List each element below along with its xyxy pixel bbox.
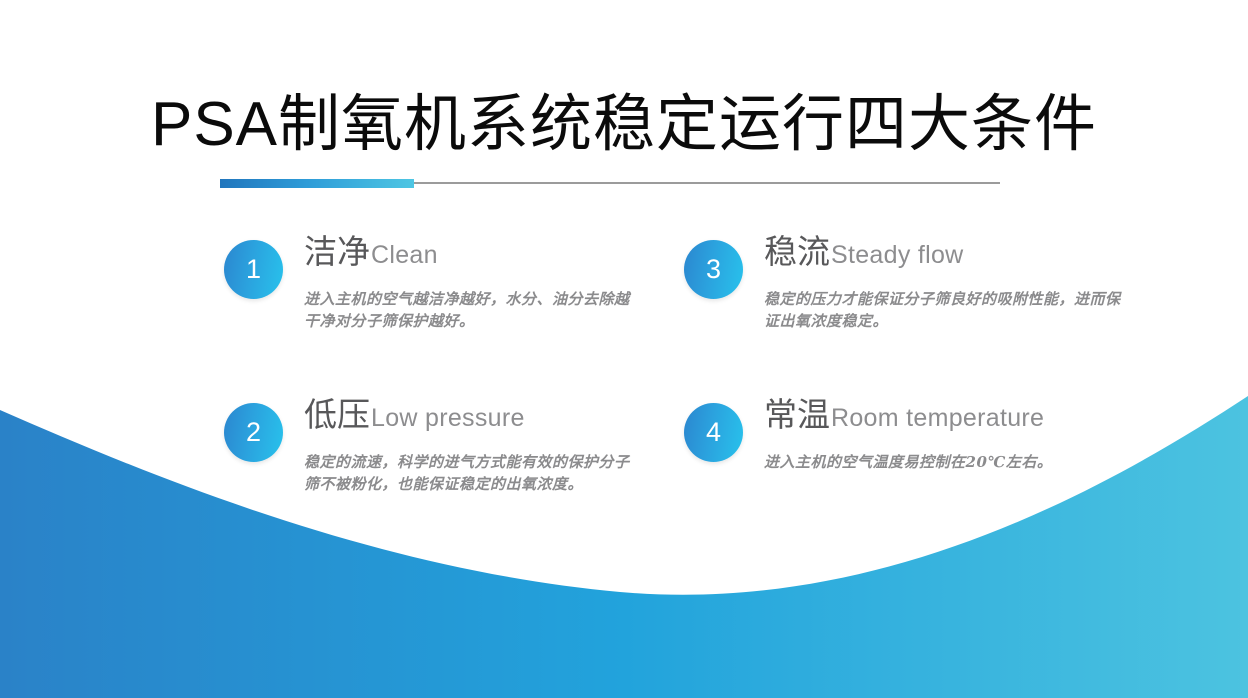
condition-item-4[interactable]: 4 常温Room temperature 进入主机的空气温度易控制在20℃左右。 <box>684 395 1154 535</box>
condition-number-badge-4: 4 <box>684 403 743 462</box>
condition-description-4: 进入主机的空气温度易控制在20℃左右。 <box>764 451 1124 473</box>
condition-heading-4: 常温Room temperature <box>764 395 1154 442</box>
condition-body-3: 稳流Steady flow 稳定的压力才能保证分子筛良好的吸附性能，进而保证出氧… <box>764 232 1154 332</box>
condition-description-3: 稳定的压力才能保证分子筛良好的吸附性能，进而保证出氧浓度稳定。 <box>764 288 1124 332</box>
condition-number-badge-1: 1 <box>224 240 283 299</box>
condition-heading-en-4: Room temperature <box>831 404 1044 432</box>
condition-number-badge-3: 3 <box>684 240 743 299</box>
condition-heading-cn-4: 常温 <box>764 396 830 433</box>
page-title: PSA制氧机系统稳定运行四大条件 <box>0 88 1248 162</box>
condition-heading-en-1: Clean <box>371 241 438 269</box>
condition-heading-cn-2: 低压 <box>304 396 370 433</box>
condition-item-1[interactable]: 1 洁净Clean 进入主机的空气越洁净越好，水分、油分去除越干净对分子筛保护越… <box>224 232 694 372</box>
condition-heading-cn-3: 稳流 <box>764 233 830 270</box>
condition-heading-2: 低压Low pressure <box>304 395 694 442</box>
condition-heading-cn-1: 洁净 <box>304 233 370 270</box>
condition-heading-en-2: Low pressure <box>371 404 525 432</box>
condition-body-4: 常温Room temperature 进入主机的空气温度易控制在20℃左右。 <box>764 395 1154 473</box>
conditions-grid: 1 洁净Clean 进入主机的空气越洁净越好，水分、油分去除越干净对分子筛保护越… <box>0 232 1248 532</box>
title-underline-rule <box>220 179 1000 188</box>
condition-body-2: 低压Low pressure 稳定的流速，科学的进气方式能有效的保护分子筛不被粉… <box>304 395 694 495</box>
condition-item-3[interactable]: 3 稳流Steady flow 稳定的压力才能保证分子筛良好的吸附性能，进而保证… <box>684 232 1154 372</box>
condition-body-1: 洁净Clean 进入主机的空气越洁净越好，水分、油分去除越干净对分子筛保护越好。 <box>304 232 694 332</box>
condition-description-2: 稳定的流速，科学的进气方式能有效的保护分子筛不被粉化，也能保证稳定的出氧浓度。 <box>304 451 634 495</box>
condition-number-badge-2: 2 <box>224 403 283 462</box>
title-rule-accent <box>220 179 414 188</box>
condition-item-2[interactable]: 2 低压Low pressure 稳定的流速，科学的进气方式能有效的保护分子筛不… <box>224 395 694 535</box>
condition-description-1: 进入主机的空气越洁净越好，水分、油分去除越干净对分子筛保护越好。 <box>304 288 634 332</box>
condition-heading-3: 稳流Steady flow <box>764 232 1154 279</box>
condition-heading-en-3: Steady flow <box>831 241 964 269</box>
condition-heading-1: 洁净Clean <box>304 232 694 279</box>
